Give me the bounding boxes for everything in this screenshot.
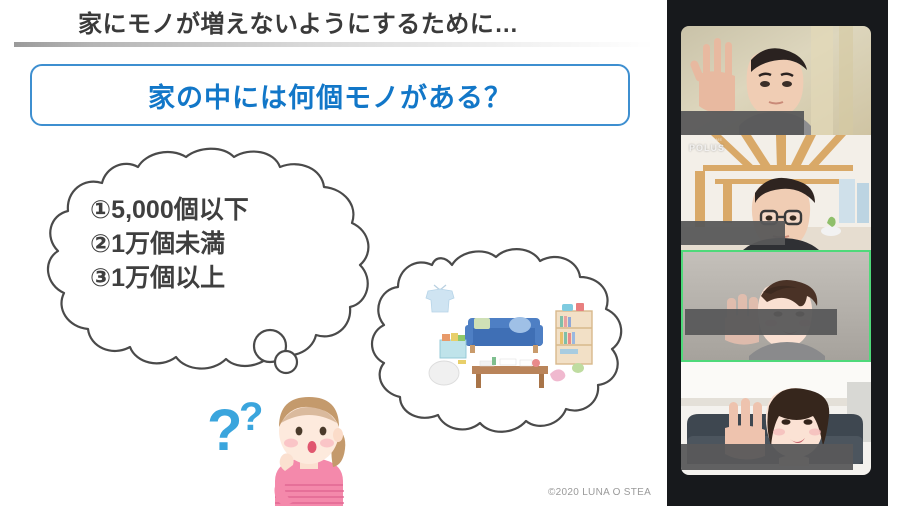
participant-name-redaction [681,444,853,470]
screen-root: 家にモノが増えないようにするために… 家の中には何個モノがある？ ①5,000個… [0,0,900,506]
options-list: ①5,000個以下 ②1万個未満 ③1万個以上 [90,193,370,295]
list-item: ②1万個未満 [90,227,370,261]
thought-bubble-trail [248,328,308,376]
page-title: 家にモノが増えないようにするために… [78,4,519,39]
coffee-table-icon [472,357,548,388]
polus-watermark: POLUS [689,143,725,153]
hanging-shirt-icon [426,285,454,312]
polus-watermark-sub: POLUS HOME [691,137,723,142]
bookshelf-icon [556,303,592,364]
presentation-slide: 家にモノが増えないようにするために… 家の中には何個モノがある？ ①5,000個… [0,0,667,506]
question-box: 家の中には何個モノがある？ [30,64,630,126]
video-tile-participant-2[interactable]: POLUS HOME POLUS [681,135,871,250]
video-tile-participant-4[interactable] [681,362,871,475]
question-box-text: 家の中には何個モノがある？ [148,76,512,115]
toy-box-icon [440,333,466,358]
participant-name-redaction [685,309,837,335]
copyright-text: ©2020 LUNA O STEA [548,487,651,498]
participant-name-redaction [681,111,804,135]
character-illustration [255,385,365,506]
title-divider [14,42,654,47]
list-item: ③1万個以上 [90,261,370,295]
video-tile-participant-1[interactable] [681,26,871,135]
sofa-icon [465,317,543,353]
bean-bag-icon [429,361,459,385]
room-illustration [410,278,610,393]
list-item: ①5,000個以下 [90,193,370,227]
video-conference-panel: POLUS HOME POLUS [667,0,888,506]
video-tile-participant-3-active-speaker[interactable] [681,250,871,362]
svg-text:?: ? [207,398,242,463]
clutter-icon [550,369,565,381]
participant-name-redaction [681,221,785,245]
